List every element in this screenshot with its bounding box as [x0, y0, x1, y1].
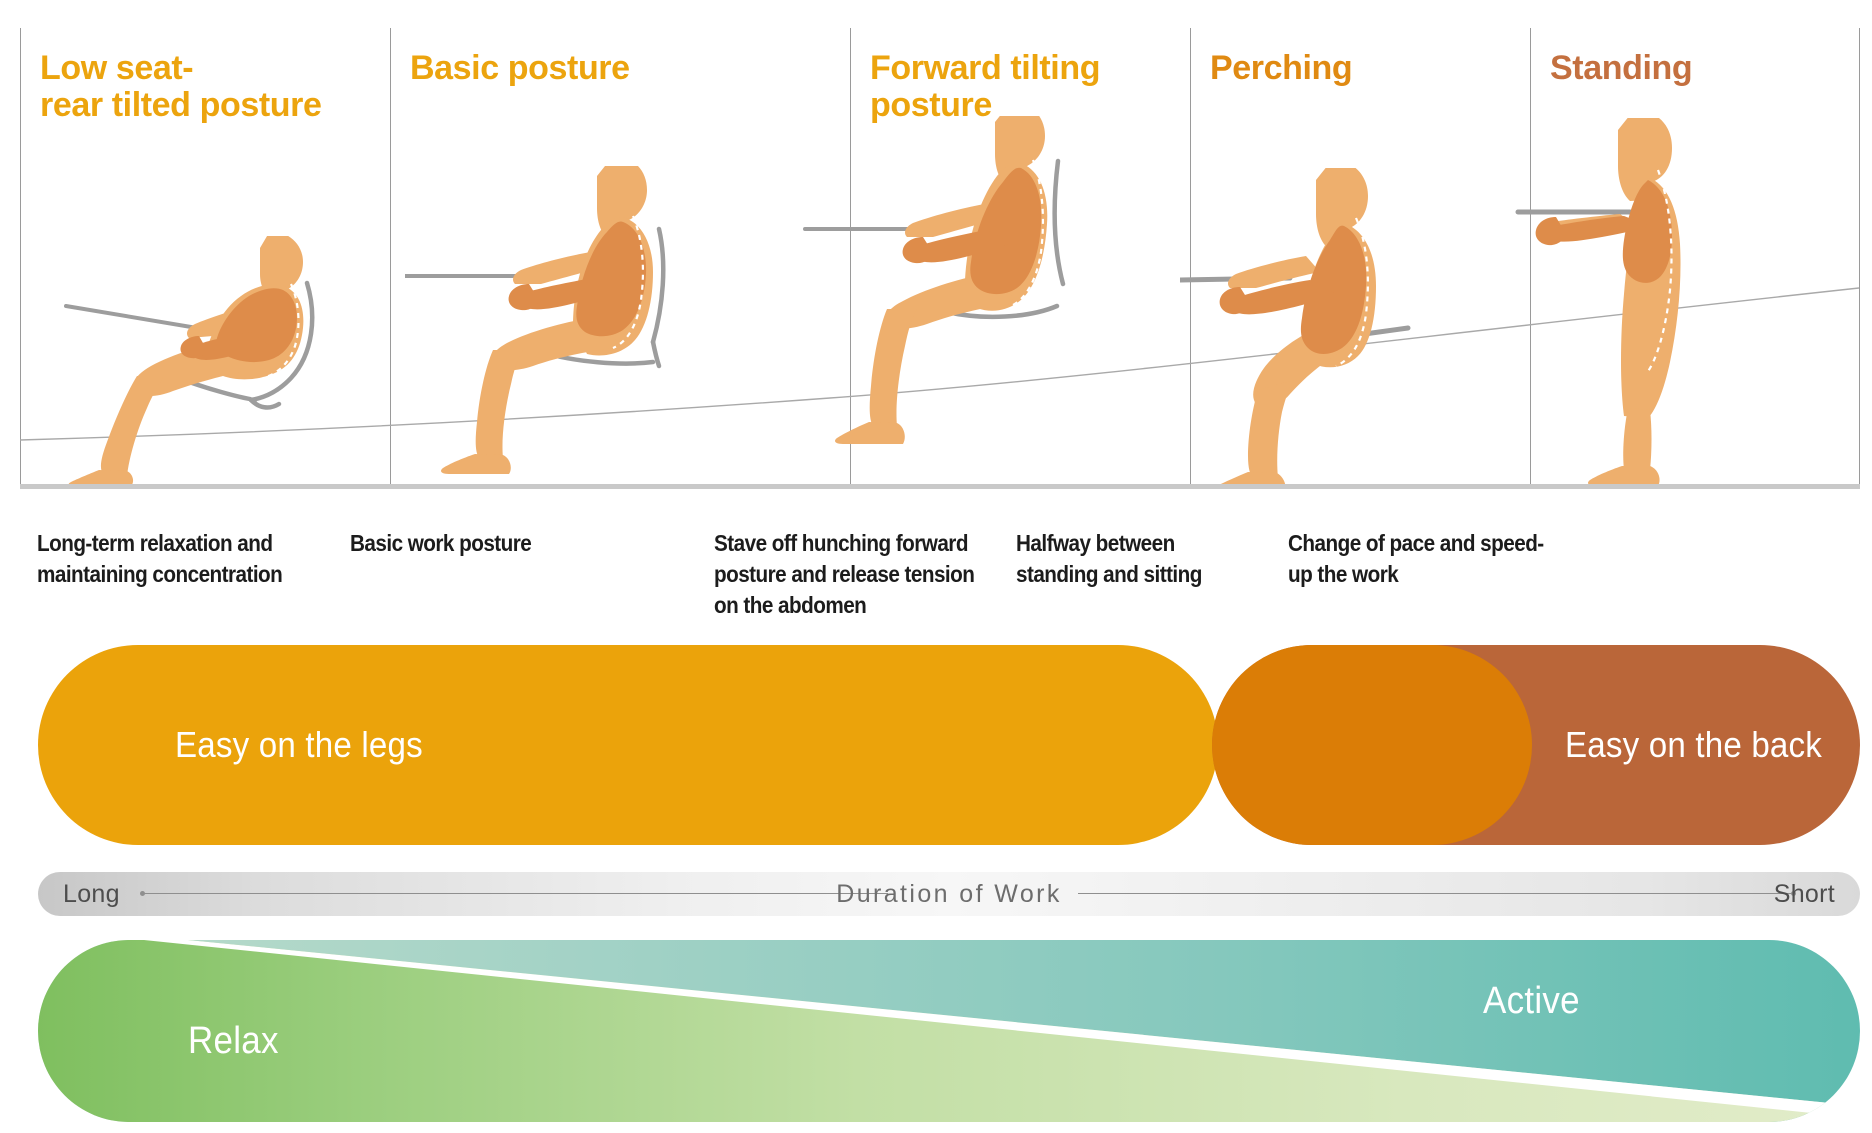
duration-of-work-title: Duration of Work [38, 872, 1860, 916]
panel-low-seat-rear-tilted: Low seat- rear tilted posture [20, 28, 390, 488]
comfort-bar: Easy on the legs Easy on the back [0, 645, 1872, 845]
panel-basic-posture: Basic posture [390, 28, 850, 488]
panel-perching: Perching [1190, 28, 1530, 488]
label-easy-on-back: Easy on the back [1565, 645, 1822, 845]
panel-forward-tilting-posture: Forward tilting posture [850, 28, 1190, 488]
duration-rule-right [1078, 893, 1793, 894]
caption-forward-tilting: Stave off hunching forward posture and r… [714, 528, 1002, 621]
panel-title-basic-posture: Basic posture [410, 50, 630, 87]
panel-title-low-seat: Low seat- rear tilted posture [40, 50, 321, 125]
figure-perching-high-stool [1180, 168, 1480, 486]
caption-perching: Halfway between standing and sitting [1016, 528, 1255, 590]
duration-of-work-bar: Long Duration of Work Short [38, 872, 1860, 916]
panel-title-forward-tilting: Forward tilting posture [870, 50, 1100, 125]
panel-title-perching: Perching [1210, 50, 1352, 87]
panel-title-standing: Standing [1550, 50, 1692, 87]
caption-standing: Change of pace and speed-up the work [1288, 528, 1549, 590]
panel-standing: Standing [1530, 28, 1859, 488]
relax-active-wedges [38, 940, 1860, 1122]
ground-line [20, 484, 1860, 489]
label-relax: Relax [188, 1020, 279, 1063]
figure-seated-forward-tilt-chair [795, 116, 1125, 486]
posture-panel-row: Low seat- rear tilted posture [0, 0, 1872, 490]
figure-standing-at-desk [1500, 118, 1800, 486]
duration-label-short: Short [1774, 872, 1835, 916]
figure-seated-reclined-low-chair [55, 236, 365, 486]
label-easy-on-legs: Easy on the legs [175, 645, 423, 845]
panel-divider [1859, 28, 1860, 488]
caption-low-seat: Long-term relaxation and maintaining con… [37, 528, 348, 590]
pill-overlap-region [1212, 645, 1532, 845]
relax-active-bar: Relax Active [38, 940, 1860, 1122]
caption-basic-posture: Basic work posture [350, 528, 710, 559]
figure-seated-upright-chair [405, 166, 735, 486]
label-active: Active [1483, 980, 1580, 1023]
